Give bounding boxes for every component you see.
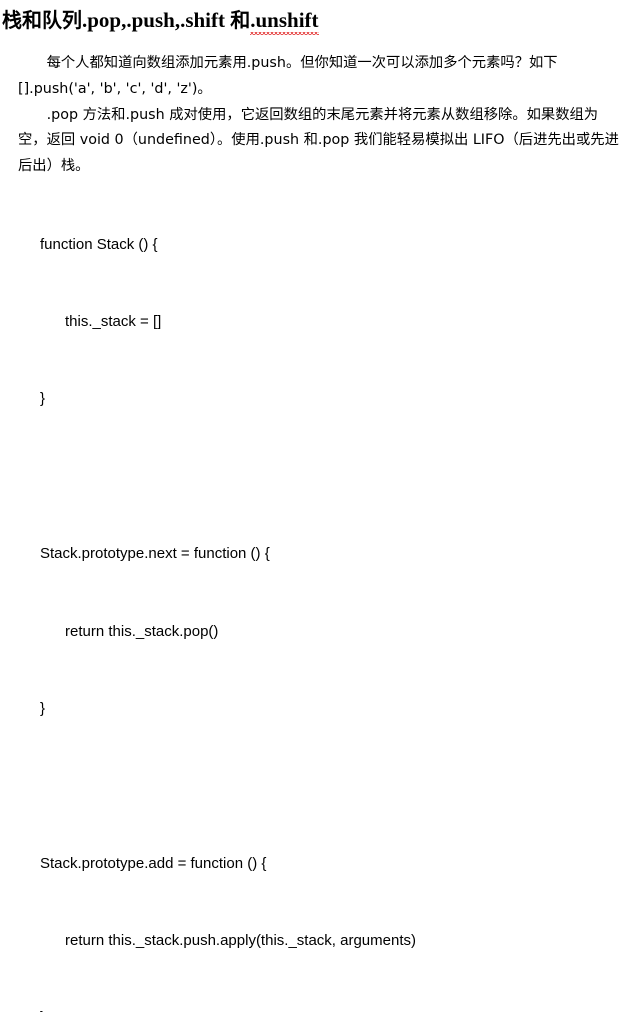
code-line-blank (40, 464, 623, 490)
page-title: 栈和队列.pop,.push,.shift 和.unshift (0, 0, 623, 35)
paragraph-2: .pop 方法和.push 成对使用，它返回数组的末尾元素并将元素从数组移除。如… (18, 103, 619, 180)
code-line-blank (40, 773, 623, 799)
code-line: } (40, 386, 623, 412)
code-line: Stack.prototype.next = function () { (40, 541, 623, 567)
code-line: this._stack = [] (40, 309, 623, 335)
code-line: function Stack () { (40, 232, 623, 258)
article-body: 每个人都知道向数组添加元素用.push。但你知道一次可以添加多个元素吗？如下[]… (0, 35, 623, 180)
code-block: function Stack () { this._stack = [] } S… (0, 180, 623, 1012)
page-title-misspelled-word: .unshift (250, 6, 318, 35)
code-line: return this._stack.push.apply(this._stac… (40, 928, 623, 954)
code-line: } (40, 1005, 623, 1012)
code-line: } (40, 696, 623, 722)
document-page: 栈和队列.pop,.push,.shift 和.unshift 每个人都知道向数… (0, 0, 623, 506)
page-title-part-3: 和 (230, 8, 250, 32)
code-line: return this._stack.pop() (40, 619, 623, 645)
page-title-part-1: 栈和队列 (2, 8, 82, 32)
paragraph-1: 每个人都知道向数组添加元素用.push。但你知道一次可以添加多个元素吗？如下[]… (18, 51, 619, 103)
code-line: Stack.prototype.add = function () { (40, 851, 623, 877)
page-title-part-2: .pop,.push,.shift (82, 8, 230, 32)
